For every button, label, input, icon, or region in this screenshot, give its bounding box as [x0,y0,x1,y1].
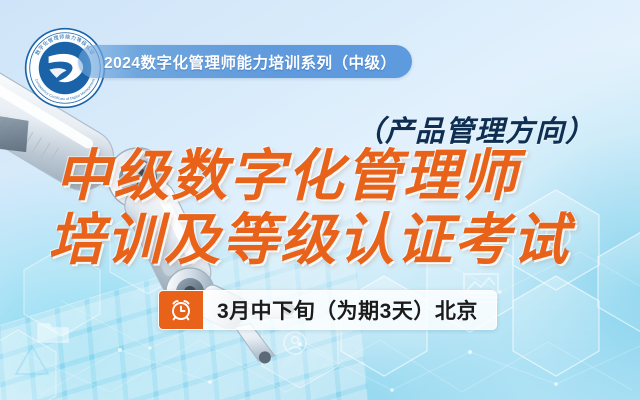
promo-banner: 数字化管理师能力等级认证 Competency Certificate of D… [0,0,640,400]
event-info-bar: 3月中下旬（为期3天）北京 [158,290,497,330]
page-title-line-2: 培训及等级认证考试 [48,212,570,268]
page-title-line-1: 中级数字化管理师 [55,148,519,204]
series-header-badge: 2024数字化管理师能力培训系列（中级） [78,45,412,78]
event-info-text: 3月中下旬（为期3天）北京 [203,291,496,329]
series-header-label: 2024数字化管理师能力培训系列（中级） [104,51,396,73]
alarm-clock-icon-container [159,291,203,329]
alarm-clock-icon [169,298,193,322]
